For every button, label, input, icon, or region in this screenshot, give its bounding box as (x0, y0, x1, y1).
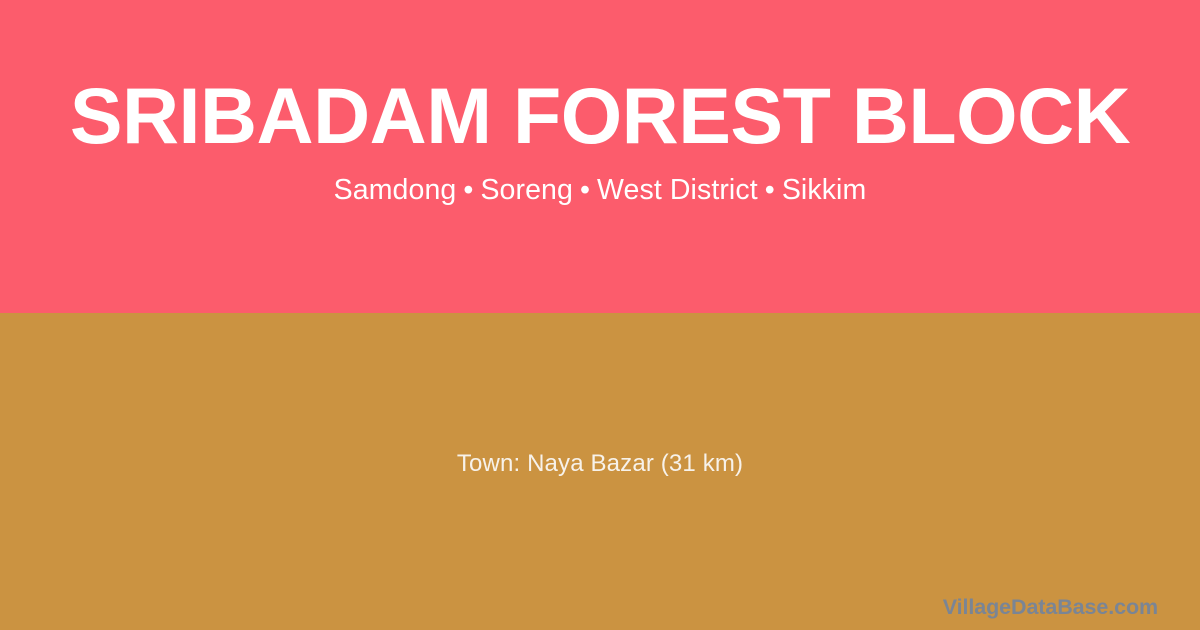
breadcrumb-separator-icon: • (573, 173, 597, 209)
nearest-town-label: Town: Naya Bazar (31 km) (457, 450, 743, 478)
body-band: Town: Naya Bazar (31 km) VillageDataBase… (0, 313, 1200, 630)
page-title: SRIBADAM FOREST BLOCK (70, 76, 1130, 157)
site-watermark: VillageDataBase.com (943, 597, 1158, 619)
breadcrumb-item-west-district: West District (597, 174, 758, 206)
breadcrumb-separator-icon: • (758, 173, 782, 209)
breadcrumb-item-sikkim: Sikkim (782, 174, 867, 206)
breadcrumb-item-samdong: Samdong (334, 174, 457, 206)
breadcrumb-separator-icon: • (456, 173, 480, 209)
village-info-card: SRIBADAM FOREST BLOCK Samdong•Soreng•Wes… (0, 0, 1200, 630)
breadcrumb: Samdong•Soreng•West District•Sikkim (334, 173, 867, 209)
breadcrumb-item-soreng: Soreng (480, 174, 573, 206)
header-band: SRIBADAM FOREST BLOCK Samdong•Soreng•Wes… (0, 0, 1200, 313)
